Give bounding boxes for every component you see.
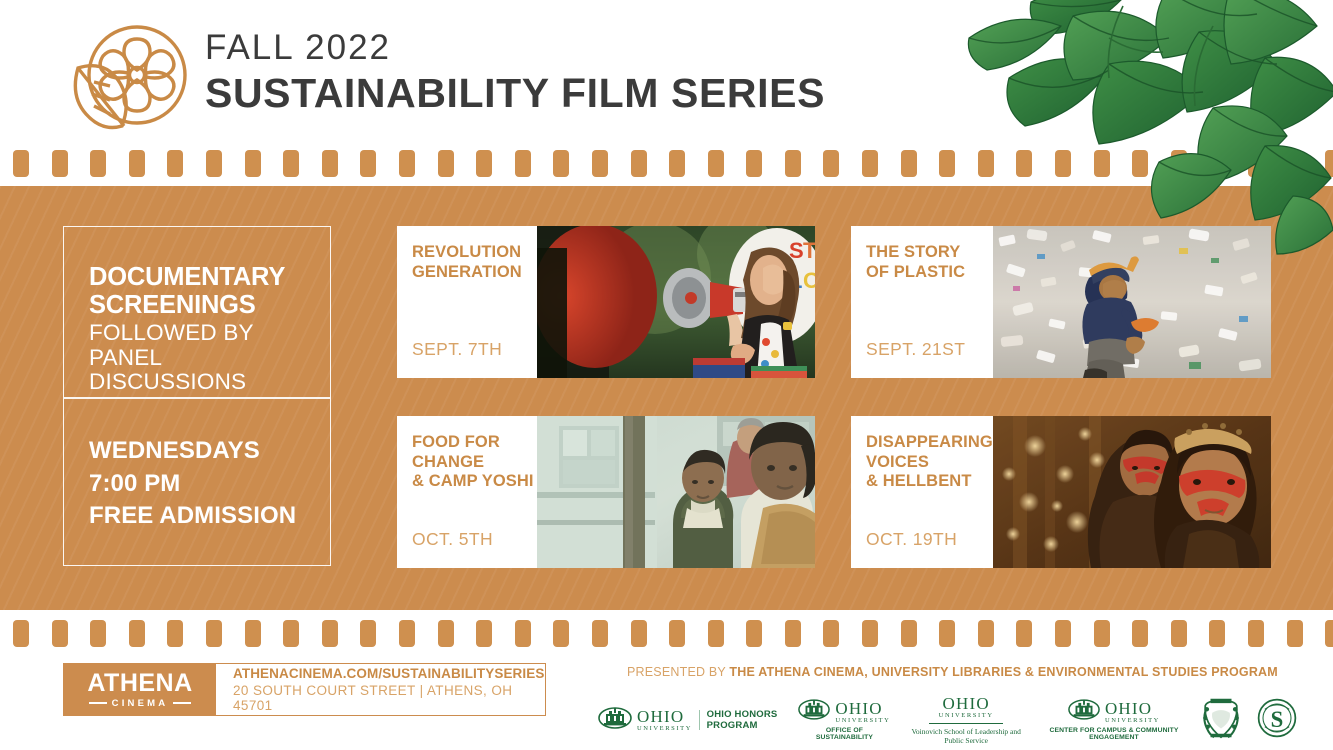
info-panel: DOCUMENTARY SCREENINGS FOLLOWED BY PANEL… xyxy=(63,226,331,566)
presented-by-line: PRESENTED BY THE ATHENA CINEMA, UNIVERSI… xyxy=(627,665,1278,679)
poster-footer: ATHENA CINEMA ATHENACINEMA.COM/SUSTAINAB… xyxy=(0,656,1333,750)
film-sprocket-hole xyxy=(1132,150,1148,177)
ohio-word: OHIO xyxy=(1105,700,1160,717)
svg-text:T: T xyxy=(803,238,815,263)
info-panel-upper: DOCUMENTARY SCREENINGS FOLLOWED BY PANEL… xyxy=(89,263,316,395)
film-photo-disappearing-voices xyxy=(993,416,1271,568)
film-sprocket-hole xyxy=(1171,150,1187,177)
film-sprocket-hole xyxy=(90,150,106,177)
film-sprocket-hole xyxy=(438,620,454,647)
film-date: OCT. 5TH xyxy=(412,529,493,550)
film-sprocket-hole xyxy=(206,620,222,647)
film-card-text: THE STORY OF PLASTIC SEPT. 21ST xyxy=(851,226,993,378)
film-sprocket-hole xyxy=(862,620,878,647)
sprocket-row-top xyxy=(0,140,1333,186)
film-sprocket-hole xyxy=(1171,620,1187,647)
presented-by-prefix: PRESENTED BY xyxy=(627,665,729,679)
film-sprocket-hole xyxy=(360,620,376,647)
film-sprocket-hole xyxy=(52,620,68,647)
ohio-university-seal-icon xyxy=(598,707,632,734)
film-title-line: THE STORY xyxy=(866,243,993,263)
film-sprocket-hole xyxy=(90,620,106,647)
athena-url[interactable]: ATHENACINEMA.COM/SUSTAINABILITYSERIES xyxy=(233,666,545,681)
film-sprocket-hole xyxy=(708,150,724,177)
film-sprocket-hole xyxy=(746,620,762,647)
film-sprocket-hole xyxy=(1016,620,1032,647)
ohio-university-wordmark: OHIO UNIVERSITY xyxy=(637,708,692,733)
film-sprocket-hole xyxy=(592,620,608,647)
film-sprocket-hole xyxy=(399,150,415,177)
film-title: REVOLUTION GENERATION xyxy=(412,243,537,282)
film-sprocket-hole xyxy=(669,620,685,647)
film-sprocket-hole xyxy=(669,150,685,177)
ohio-university-wordmark-icon: OHIO UNIVERSITY xyxy=(939,695,994,720)
ohio-word: OHIO xyxy=(835,700,890,717)
sponsor-tagline: OHIO HONORS PROGRAM xyxy=(707,709,785,731)
film-title-line: CHANGE xyxy=(412,453,537,473)
film-card-text: DISAPPEARING VOICES & HELLBENT OCT. 19TH xyxy=(851,416,993,568)
film-title: FOOD FOR CHANGE & CAMP YOSHI xyxy=(412,433,537,492)
cutler-scholars-crest-icon: S xyxy=(1256,697,1298,744)
film-card[interactable]: REVOLUTION GENERATION SEPT. 7TH S T xyxy=(397,226,815,378)
ohio-university-wordmark: OHIO UNIVERSITY xyxy=(835,700,890,725)
poster-title-main: SUSTAINABILITY FILM SERIES xyxy=(205,69,825,117)
film-sprocket-hole xyxy=(1132,620,1148,647)
ohio-university-seal-icon xyxy=(1068,699,1100,725)
film-sprocket-hole xyxy=(1248,620,1264,647)
film-sprocket-hole xyxy=(1287,620,1303,647)
presented-by-orgs: THE ATHENA CINEMA, UNIVERSITY LIBRARIES … xyxy=(729,665,1278,679)
film-photo-revolution-generation: S T L O xyxy=(537,226,815,378)
sponsor-cutler-scholars: S xyxy=(1256,697,1298,744)
film-sprocket-hole xyxy=(592,150,608,177)
athena-address: 20 SOUTH COURT STREET | ATHENS, OH 45701 xyxy=(233,683,545,713)
film-sprocket-hole xyxy=(322,620,338,647)
university-word: UNIVERSITY xyxy=(835,718,890,725)
film-sprocket-hole xyxy=(129,620,145,647)
film-date: SEPT. 7TH xyxy=(412,339,502,360)
film-sprocket-hole xyxy=(939,620,955,647)
film-sprocket-hole xyxy=(360,150,376,177)
sponsor-office-of-sustainability: OHIO UNIVERSITY OFFICE OF SUSTAINABILITY xyxy=(798,699,890,741)
film-sprocket-hole xyxy=(322,150,338,177)
film-sprocket-hole xyxy=(708,620,724,647)
athena-rule-right xyxy=(173,702,191,704)
film-sprocket-hole xyxy=(1016,150,1032,177)
svg-text:O: O xyxy=(803,268,815,293)
film-sprocket-hole xyxy=(13,620,29,647)
film-sprocket-hole xyxy=(978,620,994,647)
film-sprocket-hole xyxy=(13,150,29,177)
film-sprocket-hole xyxy=(1325,620,1333,647)
film-strip-bottom xyxy=(0,610,1333,656)
film-title: DISAPPEARING VOICES & HELLBENT xyxy=(866,433,993,492)
poster-title-block: FALL 2022 SUSTAINABILITY FILM SERIES xyxy=(205,26,825,117)
film-sprocket-hole xyxy=(283,620,299,647)
film-sprocket-hole xyxy=(1209,620,1225,647)
film-sprocket-hole xyxy=(553,150,569,177)
film-sprocket-hole xyxy=(631,620,647,647)
sponsor-ohio-honors-program: OHIO UNIVERSITY OHIO HONORS PROGRAM xyxy=(598,707,784,734)
sponsor-tagline: Voinovich School of Leadership and Publi… xyxy=(904,727,1028,745)
film-sprocket-hole xyxy=(862,150,878,177)
film-sprocket-hole xyxy=(1055,620,1071,647)
film-sprocket-hole xyxy=(167,620,183,647)
film-sprocket-hole xyxy=(283,150,299,177)
film-sprocket-hole xyxy=(476,150,492,177)
film-card-text: REVOLUTION GENERATION SEPT. 7TH xyxy=(397,226,537,378)
sponsor-logo-row: OHIO UNIVERSITY OHIO HONORS PROGRAM xyxy=(598,694,1298,746)
schedule-day: WEDNESDAYS xyxy=(89,435,316,468)
ohio-word: OHIO xyxy=(943,695,990,712)
film-title-line: & CAMP YOSHI xyxy=(412,472,537,492)
film-photo-the-story-of-plastic xyxy=(993,226,1271,378)
documentary-screenings-heading: DOCUMENTARY SCREENINGS xyxy=(89,263,316,319)
film-sprocket-hole xyxy=(206,150,222,177)
heading-line-2: SCREENINGS xyxy=(89,291,316,319)
film-sprocket-hole xyxy=(631,150,647,177)
schedule-time: 7:00 PM xyxy=(89,468,316,501)
film-title-line: FOOD FOR xyxy=(412,433,537,453)
film-title-line: REVOLUTION xyxy=(412,243,537,263)
film-title-line: DISAPPEARING xyxy=(866,433,993,453)
film-sprocket-hole xyxy=(785,150,801,177)
athena-cinema-block[interactable]: ATHENA CINEMA ATHENACINEMA.COM/SUSTAINAB… xyxy=(63,663,546,716)
film-sprocket-hole xyxy=(1055,150,1071,177)
film-sprocket-hole xyxy=(167,150,183,177)
film-sprocket-hole xyxy=(901,150,917,177)
film-title-line: & HELLBENT xyxy=(866,472,993,492)
film-sprocket-hole xyxy=(823,620,839,647)
svg-text:S: S xyxy=(1271,706,1284,731)
ohio-university-wordmark: OHIO UNIVERSITY xyxy=(1105,700,1160,725)
film-sprocket-hole xyxy=(1209,150,1225,177)
athena-cinema-logo: ATHENA CINEMA xyxy=(64,664,216,715)
film-title-line: VOICES xyxy=(866,453,993,473)
film-card[interactable]: FOOD FOR CHANGE & CAMP YOSHI OCT. 5TH xyxy=(397,416,815,568)
film-sprocket-hole xyxy=(52,150,68,177)
film-sprocket-hole xyxy=(553,620,569,647)
film-title-line: OF PLASTIC xyxy=(866,263,993,283)
poster-title-season: FALL 2022 xyxy=(205,26,825,70)
heading-line-1: DOCUMENTARY xyxy=(89,263,316,291)
university-word: UNIVERSITY xyxy=(1105,718,1160,725)
info-panel-divider xyxy=(64,397,330,399)
film-sprocket-hole xyxy=(901,620,917,647)
film-sprocket-hole xyxy=(978,150,994,177)
film-sprocket-hole xyxy=(1248,150,1264,177)
film-sprocket-hole xyxy=(399,620,415,647)
sponsor-divider xyxy=(699,710,700,730)
film-date: SEPT. 21ST xyxy=(866,339,965,360)
athena-cinema-row: CINEMA xyxy=(89,698,192,709)
ohio-university-seal-icon xyxy=(798,699,830,725)
ohio-word: OHIO xyxy=(637,708,692,725)
film-sprocket-hole xyxy=(515,150,531,177)
sponsor-tagline: CENTER FOR CAMPUS & COMMUNITY ENGAGEMENT xyxy=(1042,727,1186,741)
film-card-text: FOOD FOR CHANGE & CAMP YOSHI OCT. 5TH xyxy=(397,416,537,568)
film-sprocket-hole xyxy=(1094,150,1110,177)
film-sprocket-hole xyxy=(1325,150,1333,177)
sub-line-2: PANEL DISCUSSIONS xyxy=(89,346,316,395)
film-sprocket-hole xyxy=(823,150,839,177)
film-sprocket-hole xyxy=(746,150,762,177)
panel-discussions-subheading: FOLLOWED BY PANEL DISCUSSIONS xyxy=(89,321,316,395)
athena-wordmark: ATHENA xyxy=(87,671,192,696)
film-title: THE STORY OF PLASTIC xyxy=(866,243,993,282)
film-card[interactable]: DISAPPEARING VOICES & HELLBENT OCT. 19TH xyxy=(851,416,1271,568)
honors-tutorial-college-crest-icon xyxy=(1200,697,1242,744)
athena-subword: CINEMA xyxy=(112,698,169,709)
athena-rule-left xyxy=(89,702,107,704)
film-date: OCT. 19TH xyxy=(866,529,957,550)
film-sprocket-hole xyxy=(245,620,261,647)
sub-line-1: FOLLOWED BY xyxy=(89,321,316,346)
film-sprocket-hole xyxy=(785,620,801,647)
sponsor-voinovich-school: OHIO UNIVERSITY Voinovich School of Lead… xyxy=(904,695,1028,745)
film-sprocket-hole xyxy=(438,150,454,177)
poster-header: FALL 2022 SUSTAINABILITY FILM SERIES xyxy=(0,0,1333,140)
film-sprocket-hole xyxy=(939,150,955,177)
sponsor-rule xyxy=(929,723,1003,724)
info-panel-lower: WEDNESDAYS 7:00 PM FREE ADMISSION xyxy=(89,435,316,533)
film-sprocket-hole xyxy=(245,150,261,177)
film-card[interactable]: THE STORY OF PLASTIC SEPT. 21ST xyxy=(851,226,1271,378)
sponsor-tagline: OFFICE OF SUSTAINABILITY xyxy=(798,727,890,741)
film-reel-leaf-logo-icon xyxy=(64,22,194,134)
film-sprocket-hole xyxy=(515,620,531,647)
sponsor-honors-tutorial-college xyxy=(1200,697,1242,744)
university-word: UNIVERSITY xyxy=(939,713,994,720)
film-sprocket-hole xyxy=(476,620,492,647)
university-word: UNIVERSITY xyxy=(637,726,692,733)
film-sprocket-hole xyxy=(1094,620,1110,647)
film-photo-food-for-change xyxy=(537,416,815,568)
film-title-line: GENERATION xyxy=(412,263,537,283)
film-strip-top xyxy=(0,140,1333,186)
film-sprocket-hole xyxy=(1287,150,1303,177)
athena-contact-info: ATHENACINEMA.COM/SUSTAINABILITYSERIES 20… xyxy=(216,664,545,715)
sprocket-row-bottom xyxy=(0,610,1333,656)
admission-note: FREE ADMISSION xyxy=(89,500,316,533)
film-sprocket-hole xyxy=(129,150,145,177)
sponsor-center-campus-community: OHIO UNIVERSITY CENTER FOR CAMPUS & COMM… xyxy=(1042,699,1186,741)
